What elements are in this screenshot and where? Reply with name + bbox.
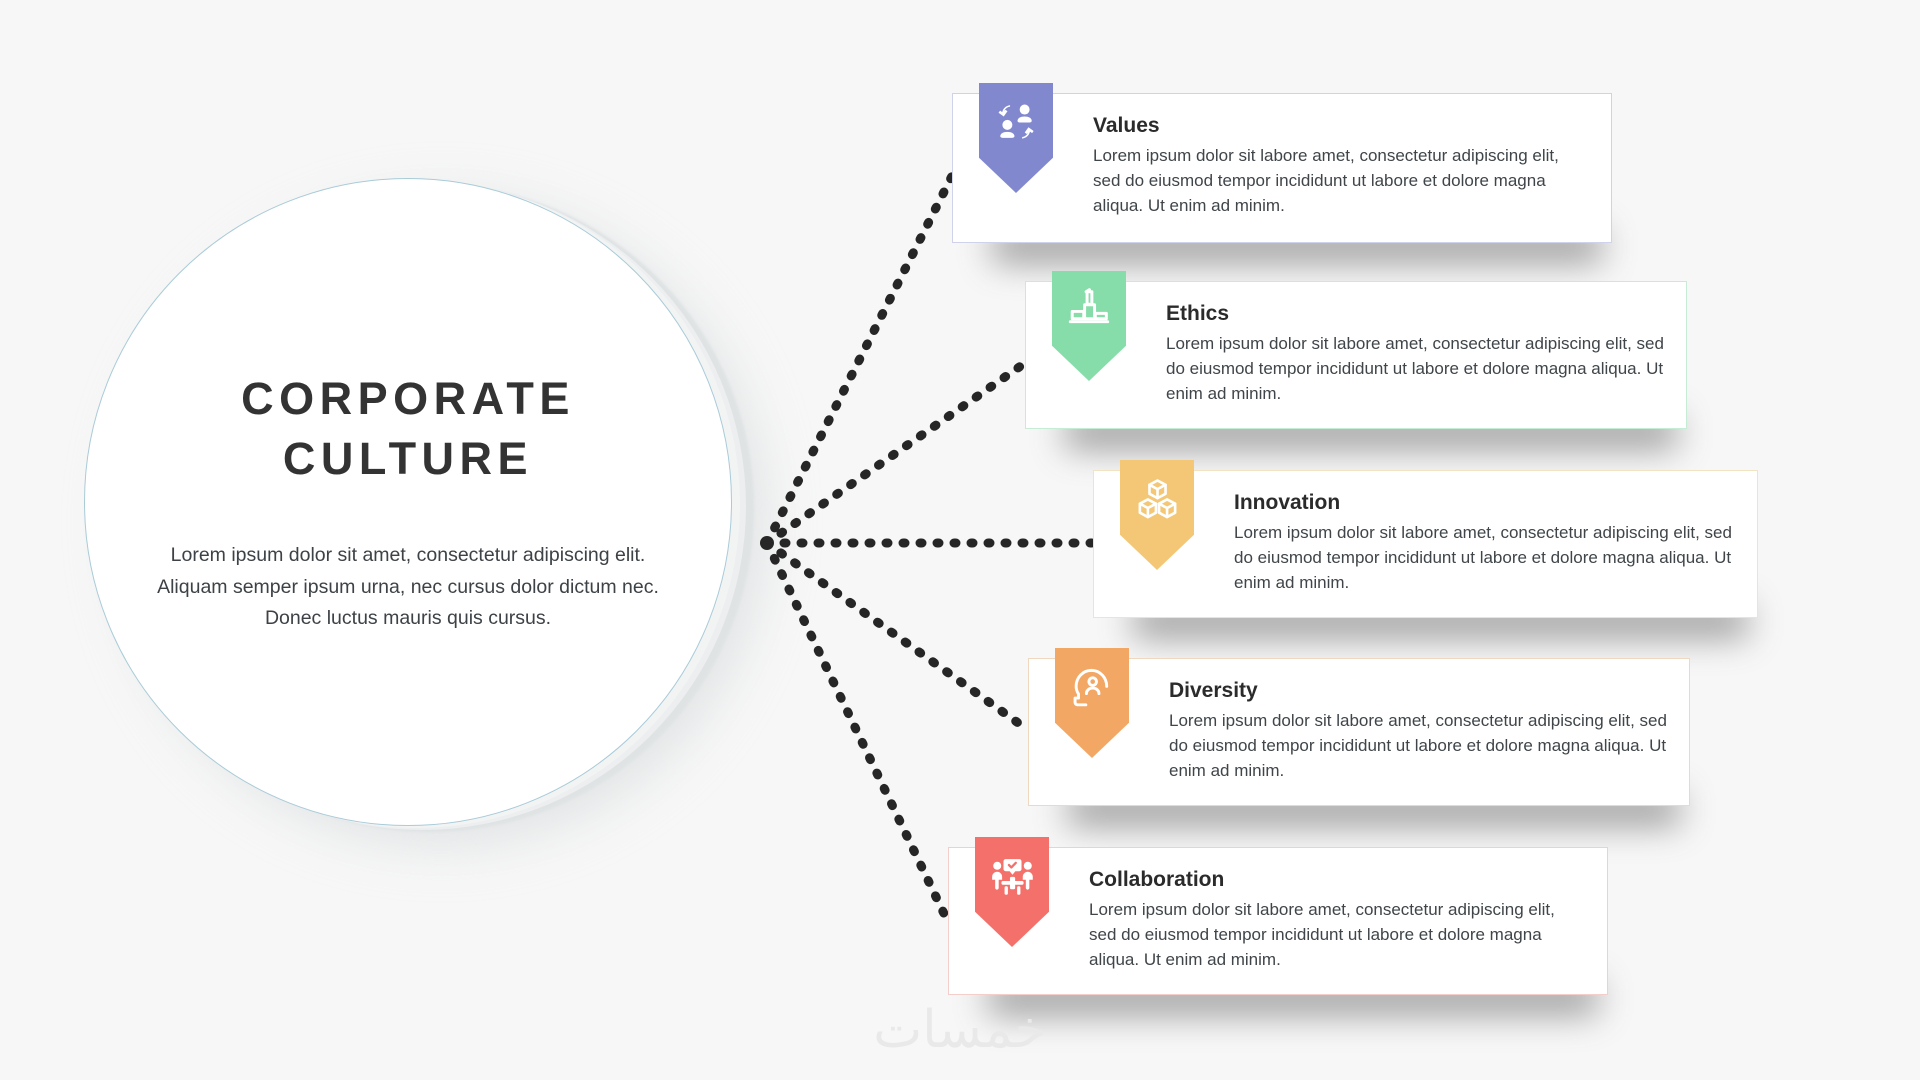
card-description: Lorem ipsum dolor sit labore amet, conse…: [1166, 331, 1664, 406]
card-title: Ethics: [1166, 302, 1664, 326]
connector-line-collaboration: [767, 543, 948, 922]
card-text: CollaborationLorem ipsum dolor sit labor…: [1089, 848, 1607, 992]
card-text: InnovationLorem ipsum dolor sit labore a…: [1234, 471, 1757, 615]
card-text: EthicsLorem ipsum dolor sit labore amet,…: [1166, 282, 1686, 426]
center-circle: CORPORATE CULTURE Lorem ipsum dolor sit …: [84, 178, 732, 826]
team-meeting-icon: [989, 853, 1036, 905]
card-innovation[interactable]: InnovationLorem ipsum dolor sit labore a…: [1093, 470, 1758, 618]
head-person-profile-icon: [1069, 664, 1116, 716]
connector-line-diversity: [767, 543, 1028, 730]
card-description: Lorem ipsum dolor sit labore amet, conse…: [1169, 708, 1667, 783]
ribbon-head-person-profile-icon: [1055, 648, 1129, 758]
ribbon-people-exchange-icon: [979, 83, 1053, 193]
people-exchange-icon: [993, 99, 1039, 150]
ribbon-team-meeting-icon: [975, 837, 1049, 947]
ribbon-podium-first-place-icon: [1052, 271, 1126, 381]
center-title: CORPORATE CULTURE: [157, 369, 659, 488]
podium-first-place-icon: [1066, 287, 1112, 338]
stacked-cubes-icon: [1134, 476, 1181, 528]
card-text: ValuesLorem ipsum dolor sit labore amet,…: [1093, 94, 1611, 238]
card-text: DiversityLorem ipsum dolor sit labore am…: [1169, 659, 1689, 803]
card-title: Values: [1093, 114, 1589, 138]
card-diversity[interactable]: DiversityLorem ipsum dolor sit labore am…: [1028, 658, 1690, 806]
center-description: Lorem ipsum dolor sit amet, consectetur …: [157, 540, 659, 635]
card-title: Collaboration: [1089, 868, 1585, 892]
infographic-canvas: CORPORATE CULTURE Lorem ipsum dolor sit …: [0, 0, 1920, 1080]
watermark: خمسات: [873, 1000, 1046, 1060]
ribbon-stacked-cubes-icon: [1120, 460, 1194, 570]
card-ethics[interactable]: EthicsLorem ipsum dolor sit labore amet,…: [1025, 281, 1687, 429]
card-description: Lorem ipsum dolor sit labore amet, conse…: [1234, 520, 1735, 595]
card-description: Lorem ipsum dolor sit labore amet, conse…: [1093, 143, 1589, 218]
connector-line-values: [767, 176, 952, 543]
card-title: Diversity: [1169, 679, 1667, 703]
card-description: Lorem ipsum dolor sit labore amet, conse…: [1089, 897, 1585, 972]
card-values[interactable]: ValuesLorem ipsum dolor sit labore amet,…: [952, 93, 1612, 243]
card-title: Innovation: [1234, 491, 1735, 515]
connector-line-ethics: [767, 363, 1025, 543]
card-collaboration[interactable]: CollaborationLorem ipsum dolor sit labor…: [948, 847, 1608, 995]
center-circle-group: CORPORATE CULTURE Lorem ipsum dolor sit …: [84, 178, 744, 838]
